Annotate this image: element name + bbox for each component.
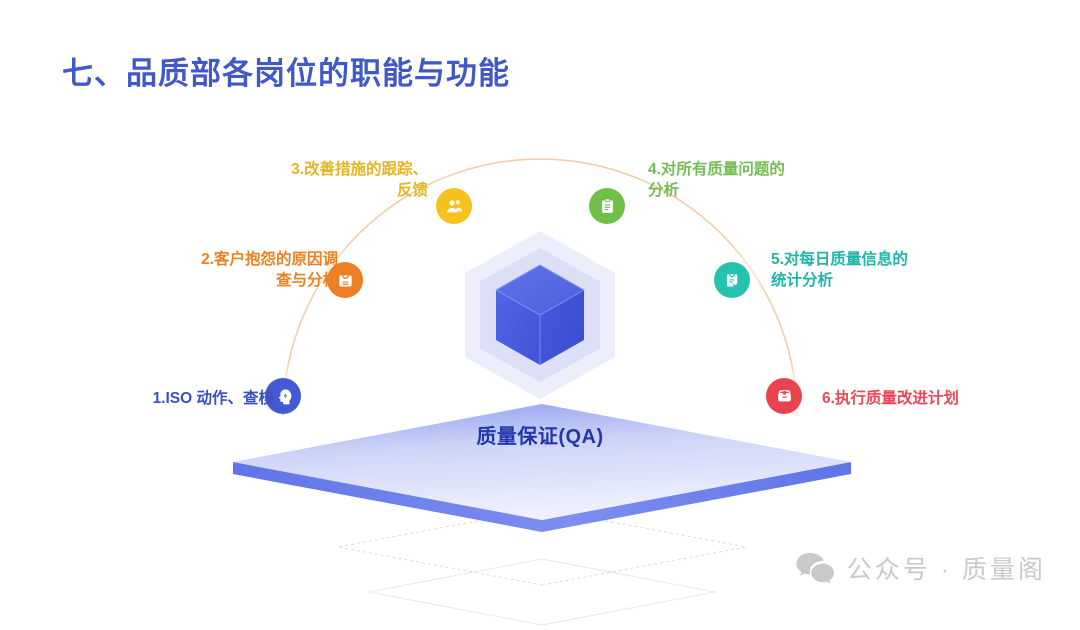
- platform-label: 质量保证(QA): [0, 420, 1080, 449]
- slide-root: 七、品质部各岗位的职能与功能: [0, 0, 1080, 608]
- brain-head-icon: [274, 387, 293, 406]
- node-2-label: 2.客户抱怨的原因调 查与分析: [201, 250, 338, 292]
- wallet-icon: [775, 387, 794, 406]
- node-6-execution[interactable]: [766, 378, 802, 414]
- node-1-label: 1.ISO 动作、查核: [153, 389, 274, 410]
- wechat-icon: [795, 551, 835, 585]
- node-5-statistics[interactable]: [714, 262, 750, 298]
- watermark-text: 公众号 · 质量阁: [847, 550, 1046, 586]
- watermark: 公众号 · 质量阁: [795, 550, 1046, 586]
- clipboard-check-icon: [723, 271, 742, 290]
- shopping-bag-icon: [336, 271, 355, 290]
- diagram-stage: 质量保证(QA): [0, 120, 1080, 560]
- page-title: 七、品质部各岗位的职能与功能: [62, 48, 510, 93]
- node-4-analysis[interactable]: [589, 188, 625, 224]
- node-5-label: 5.对每日质量信息的 统计分析: [771, 250, 908, 292]
- users-icon: [445, 197, 464, 216]
- node-3-improvement[interactable]: [436, 188, 472, 224]
- node-3-label: 3.改善措施的跟踪、 反馈: [291, 160, 428, 202]
- cube-icon: [494, 263, 586, 367]
- node-4-label: 4.对所有质量问题的 分析: [648, 160, 785, 202]
- clipboard-icon: [598, 197, 617, 216]
- core-graphic: [465, 230, 615, 400]
- node-6-label: 6.执行质量改进计划: [822, 389, 959, 410]
